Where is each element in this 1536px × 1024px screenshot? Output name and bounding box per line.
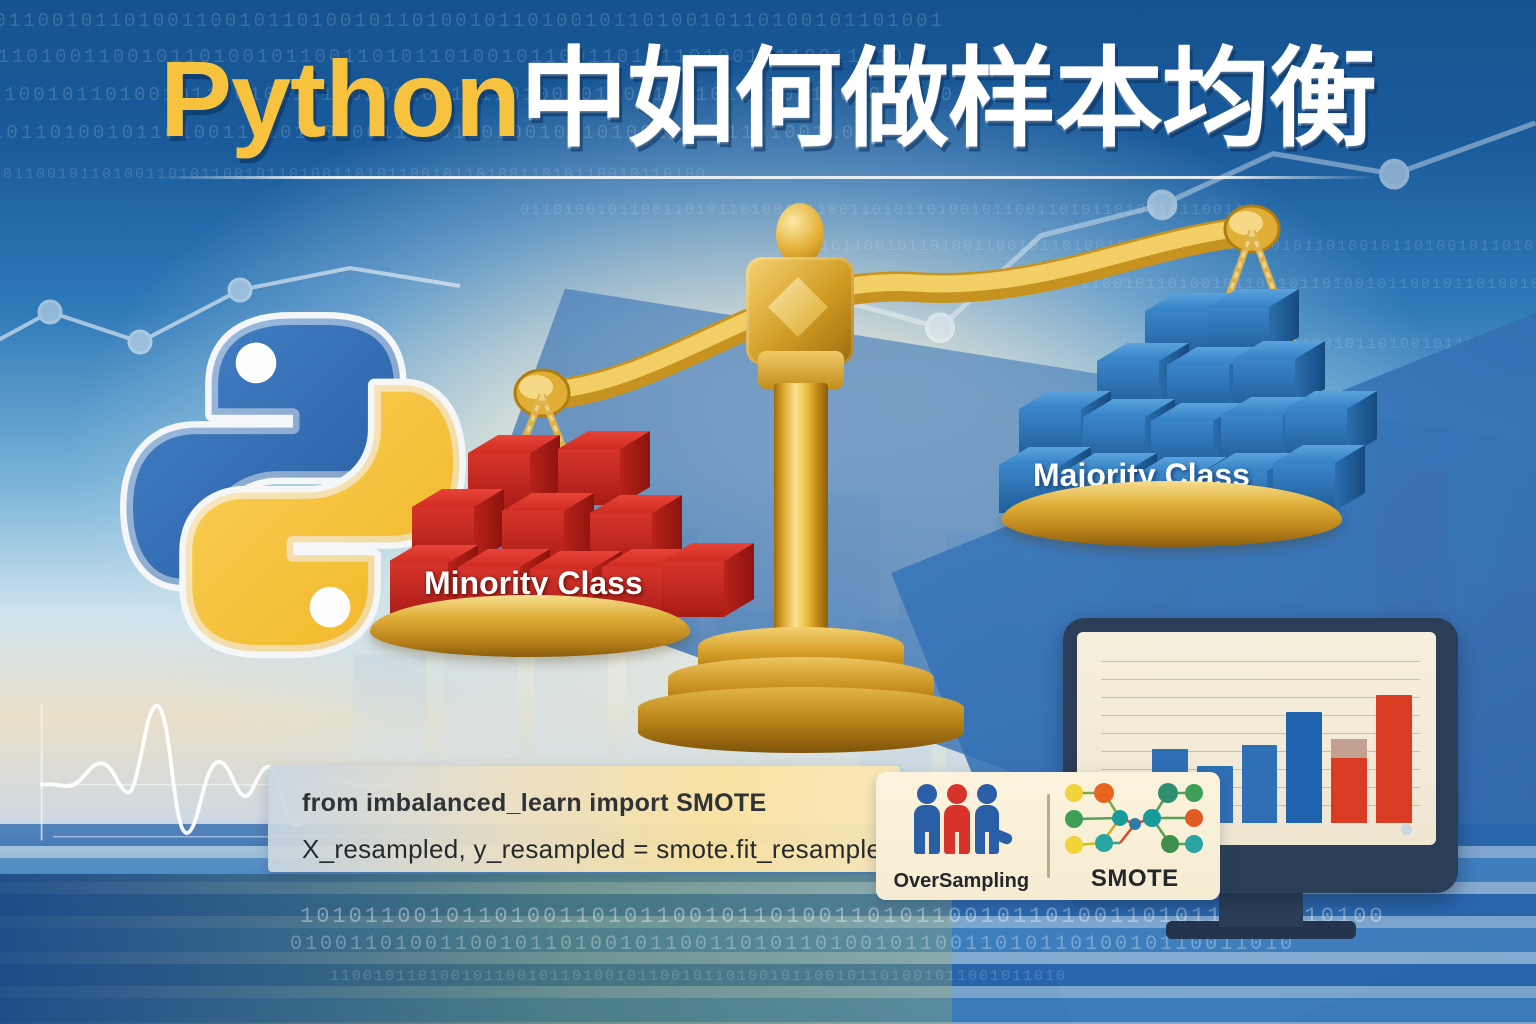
smote-label: SMOTE bbox=[1091, 865, 1179, 893]
monitor-power-led bbox=[1401, 824, 1412, 835]
person-icon-1 bbox=[914, 784, 940, 854]
person-icon-3 bbox=[974, 784, 1008, 854]
oversampling-section: OverSampling bbox=[876, 772, 1047, 900]
scale-column bbox=[774, 383, 828, 651]
poster-title: Python中如何做样本均衡 bbox=[0, 42, 1536, 155]
poster-title-wrapper: Python中如何做样本均衡 bbox=[0, 42, 1536, 155]
smote-section: SMOTE bbox=[1050, 772, 1221, 900]
bottom-green-wash bbox=[0, 874, 952, 1024]
scale-pivot-block bbox=[746, 257, 854, 365]
scale-pan-right-dish bbox=[1002, 481, 1342, 547]
smote-graph-icon bbox=[1060, 780, 1210, 858]
code-line-2: X_resampled, y_resampled = smote.fit_res… bbox=[302, 826, 900, 872]
scale-finial bbox=[776, 203, 824, 265]
bar-5 bbox=[1286, 712, 1322, 823]
scale-base-tier-3 bbox=[638, 687, 964, 753]
title-underline bbox=[160, 176, 1376, 179]
code-line-1: from imbalanced_learn import SMOTE bbox=[302, 780, 900, 826]
poster-canvas: 1011001011010011001011010010110100101101… bbox=[0, 0, 1536, 1024]
scale-pan-left-dish bbox=[370, 595, 690, 657]
people-group-icon bbox=[914, 780, 1008, 854]
code-snippet-panel: from imbalanced_learn import SMOTE X_res… bbox=[268, 766, 900, 872]
title-python-word: Python bbox=[160, 38, 520, 159]
oversampling-label: OverSampling bbox=[893, 870, 1029, 893]
bar-7 bbox=[1376, 695, 1412, 823]
bar-4 bbox=[1242, 745, 1278, 823]
title-chinese-text: 中如何做样本均衡 bbox=[520, 38, 1376, 159]
bar-6 bbox=[1331, 739, 1367, 823]
person-icon-2 bbox=[944, 784, 970, 854]
technique-card: OverSampling bbox=[876, 772, 1220, 900]
